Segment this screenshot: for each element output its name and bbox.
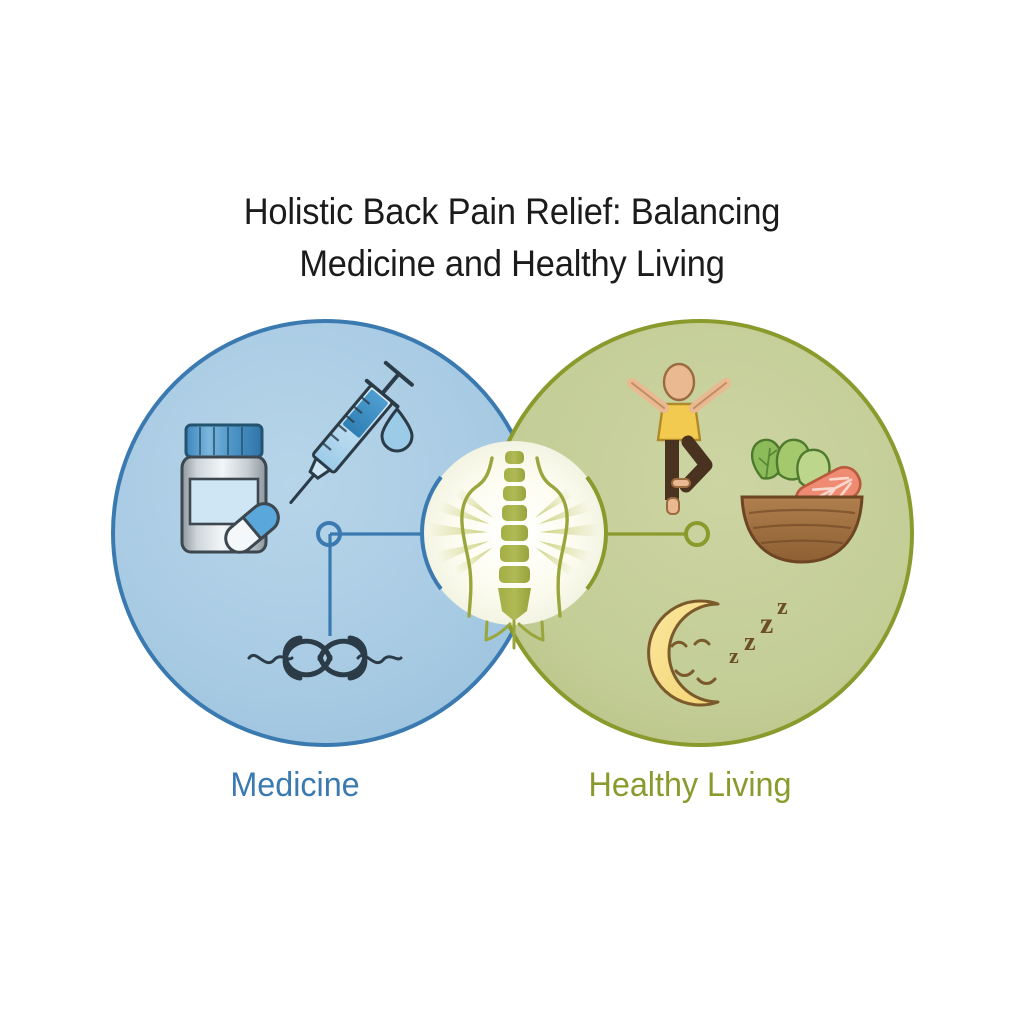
venn-label-medicine: Medicine — [134, 766, 457, 805]
sleep-z-small: z — [729, 643, 739, 668]
venn-label-healthy-living: Healthy Living — [529, 766, 852, 805]
svg-text:z: z — [777, 594, 788, 620]
venn-diagram: z z z z Medicine Healthy Living — [0, 0, 1024, 1024]
svg-text:z: z — [744, 627, 756, 656]
venn-diagram-svg: z z z z — [0, 0, 1024, 1024]
svg-text:z: z — [760, 607, 773, 640]
infographic-canvas: Holistic Back Pain Relief: Balancing Med… — [0, 0, 1024, 1024]
